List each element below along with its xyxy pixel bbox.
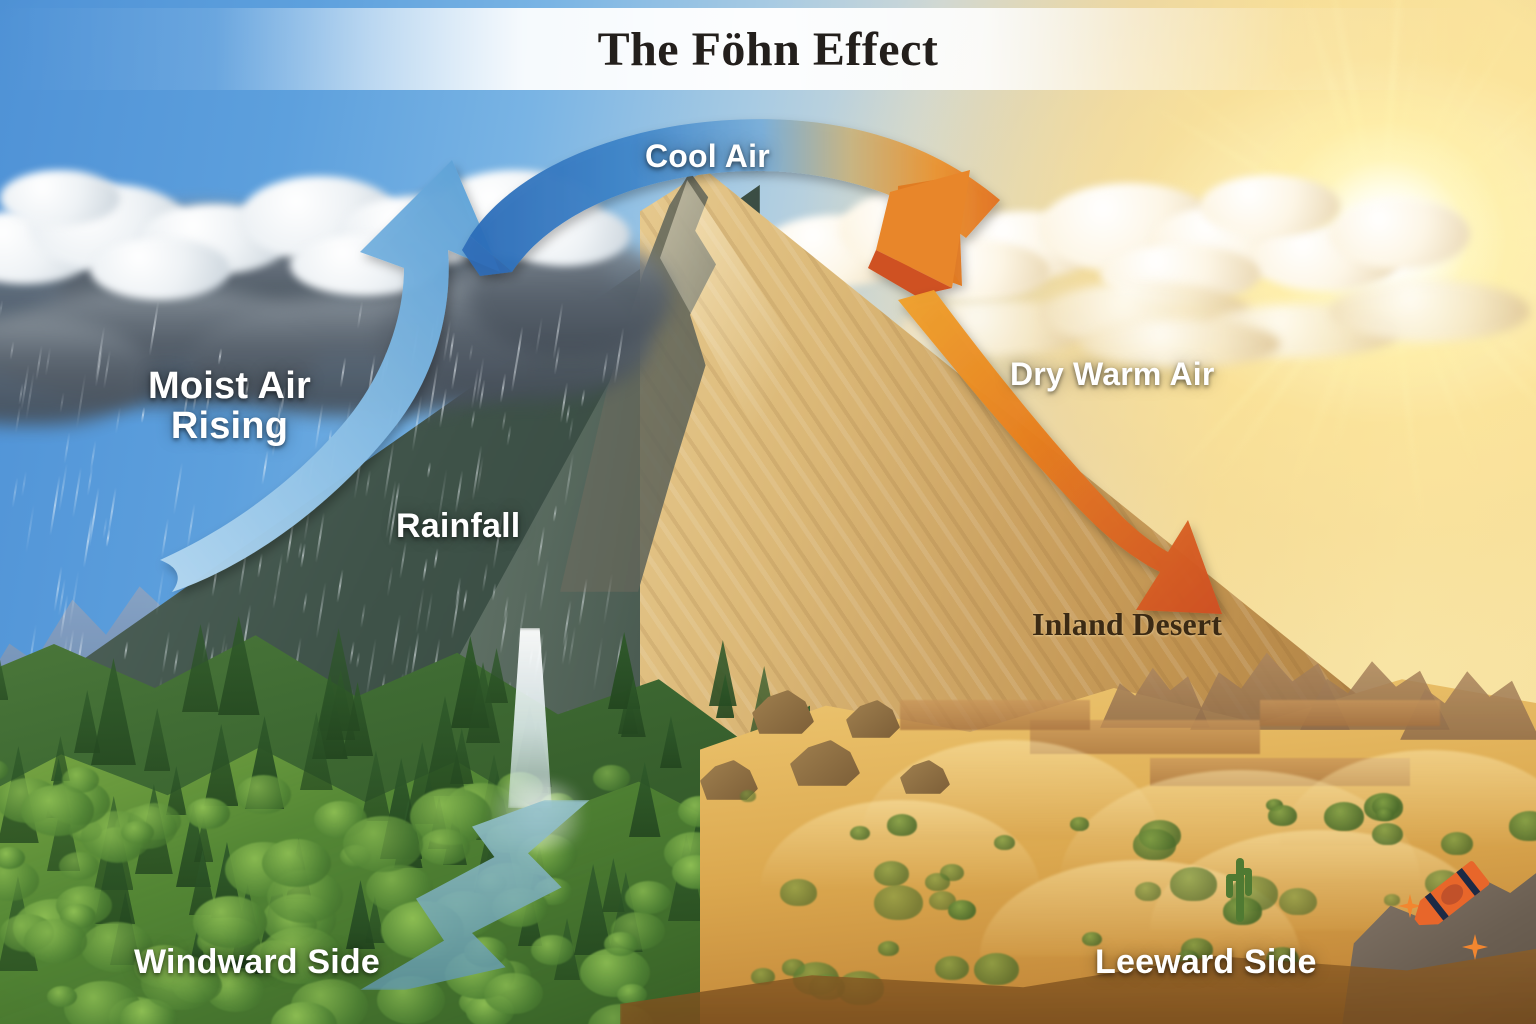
label-inland-desert: Inland Desert: [1032, 608, 1222, 642]
sparkle-icon: [1462, 934, 1488, 960]
label-moist-air-rising: Moist Air Rising: [148, 366, 311, 447]
label-cool-air: Cool Air: [645, 140, 770, 174]
dry-warm-air-descending-arrow: [898, 290, 1222, 614]
label-windward-side: Windward Side: [134, 944, 380, 980]
foehn-effect-infographic: Moist Air Rising Rainfall Cool Air Dry W…: [0, 0, 1536, 1024]
label-dry-warm-air: Dry Warm Air: [1010, 358, 1215, 392]
label-leeward-side: Leeward Side: [1095, 944, 1317, 980]
title-banner: The Föhn Effect: [0, 8, 1536, 90]
page-title: The Föhn Effect: [598, 22, 939, 77]
crayon-icon: [1407, 860, 1490, 934]
label-rainfall: Rainfall: [396, 508, 520, 544]
watermark: [1398, 868, 1518, 978]
